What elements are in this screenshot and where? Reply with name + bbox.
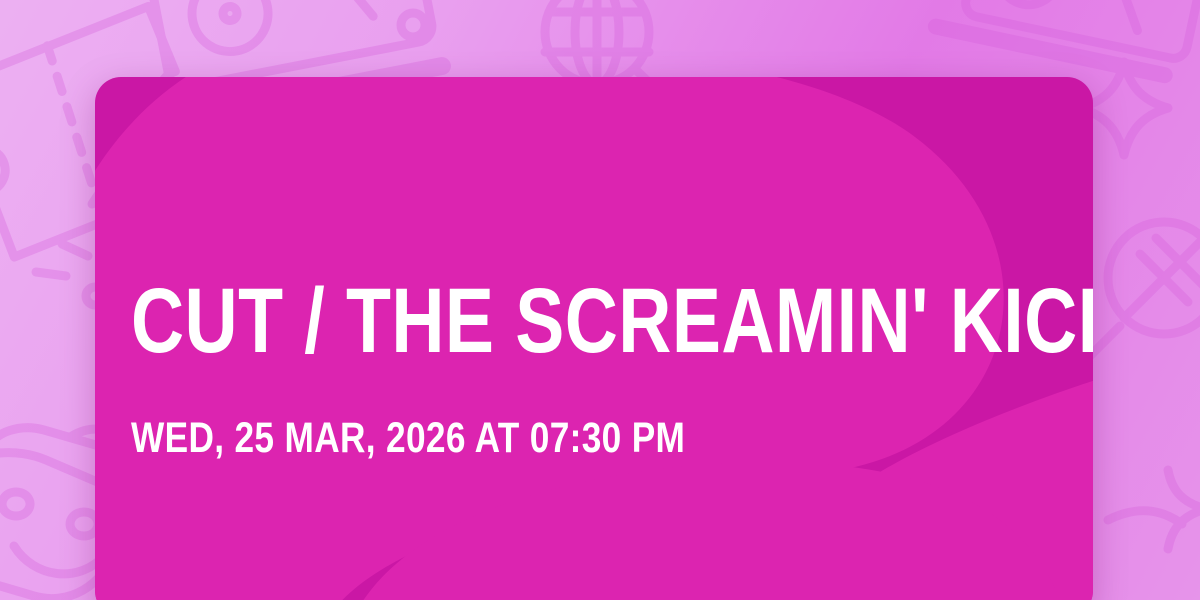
event-card[interactable]: CUT / THE SCREAMIN' KICK WED, 25 MAR, 20… [95, 77, 1093, 600]
card-content: CUT / THE SCREAMIN' KICK WED, 25 MAR, 20… [131, 77, 1093, 600]
event-date: WED, 25 MAR, 2026 AT 07:30 PM [131, 413, 685, 463]
event-banner: CUT / THE SCREAMIN' KICK WED, 25 MAR, 20… [0, 0, 1200, 600]
event-title: CUT / THE SCREAMIN' KICK [131, 273, 1093, 369]
